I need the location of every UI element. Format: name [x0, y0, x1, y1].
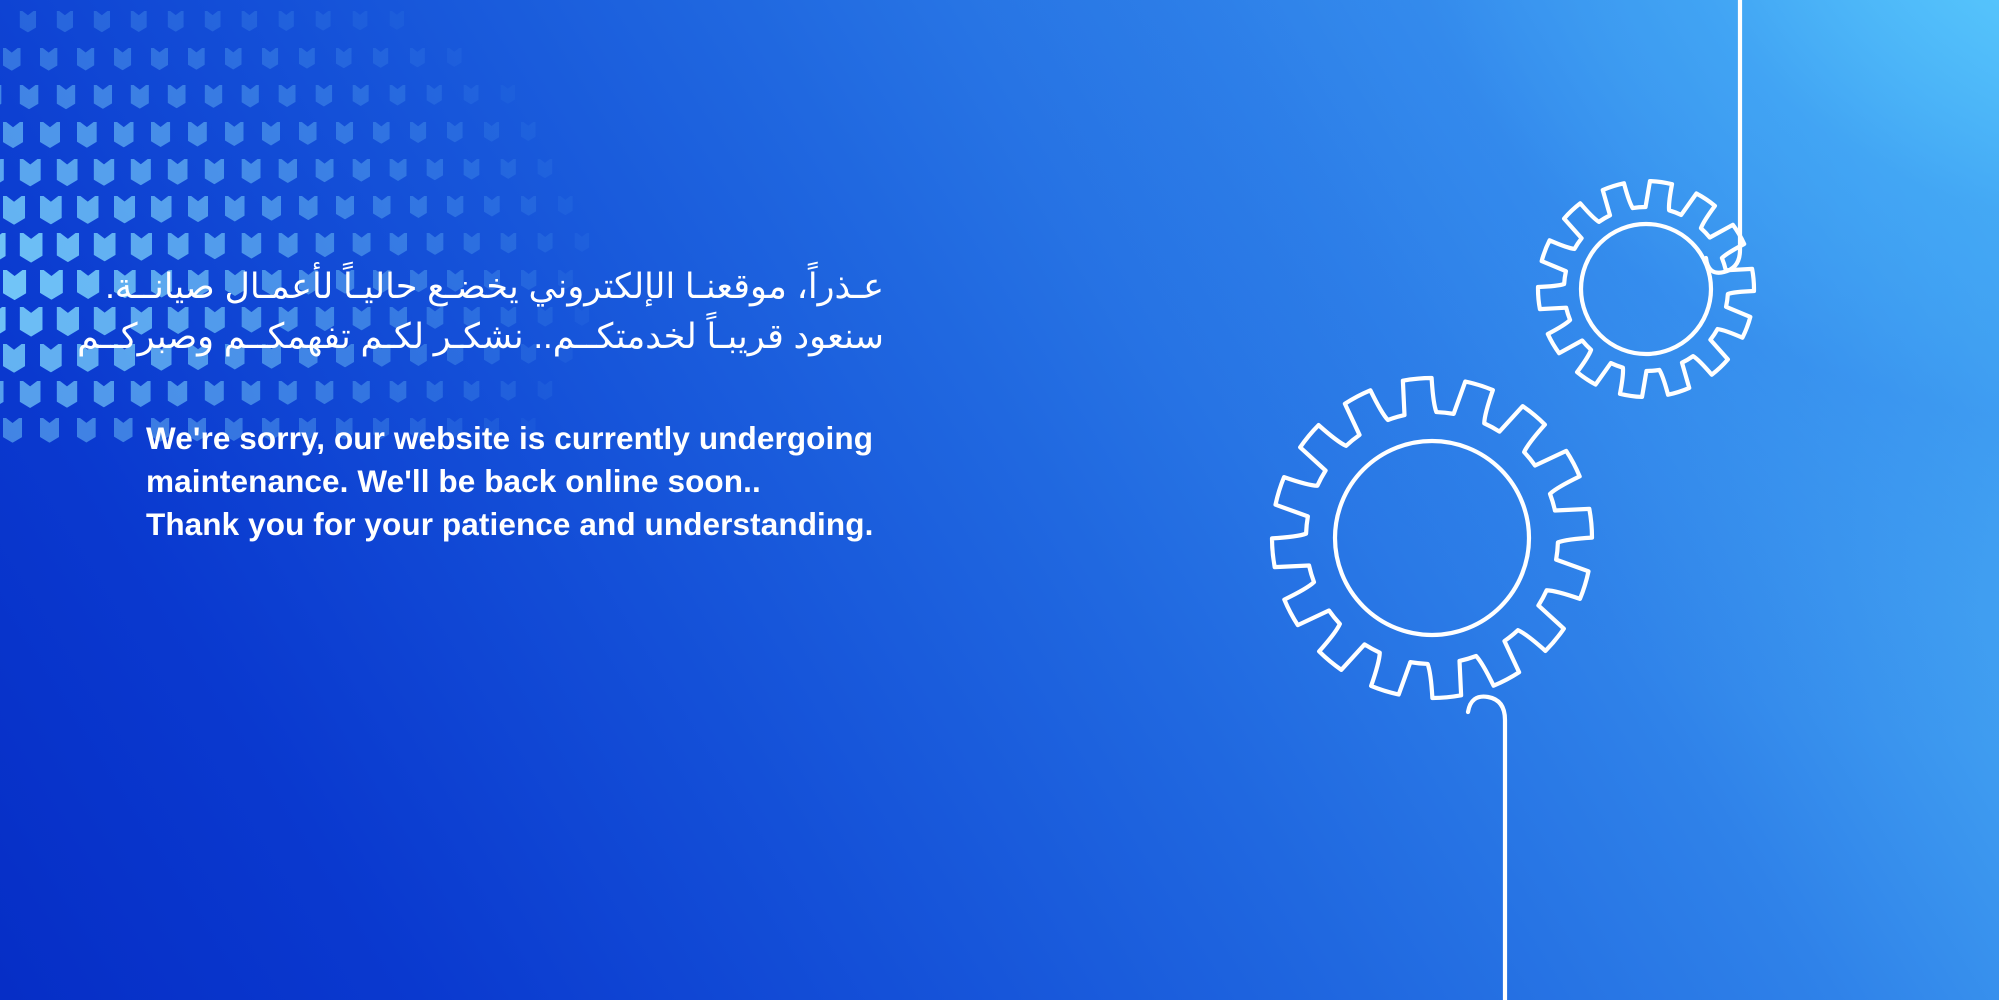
- arabic-line-1: عـذراً، موقعنـا الإلكتروني يخضـع حاليـاً…: [146, 262, 884, 312]
- english-line-3: Thank you for your patience and understa…: [146, 503, 926, 546]
- arabic-line-2: سنعود قريبـاً لخدمتكــم.. نشكـر لكـم تفه…: [146, 312, 884, 362]
- english-line-1: We're sorry, our website is currently un…: [146, 417, 926, 460]
- maintenance-page: عـذراً، موقعنـا الإلكتروني يخضـع حاليـاً…: [0, 0, 1999, 1000]
- english-line-2: maintenance. We'll be back online soon..: [146, 460, 926, 503]
- message-block: عـذراً، موقعنـا الإلكتروني يخضـع حاليـاً…: [146, 262, 926, 546]
- arabic-message: عـذراً، موقعنـا الإلكتروني يخضـع حاليـاً…: [146, 262, 884, 362]
- english-message: We're sorry, our website is currently un…: [146, 417, 926, 546]
